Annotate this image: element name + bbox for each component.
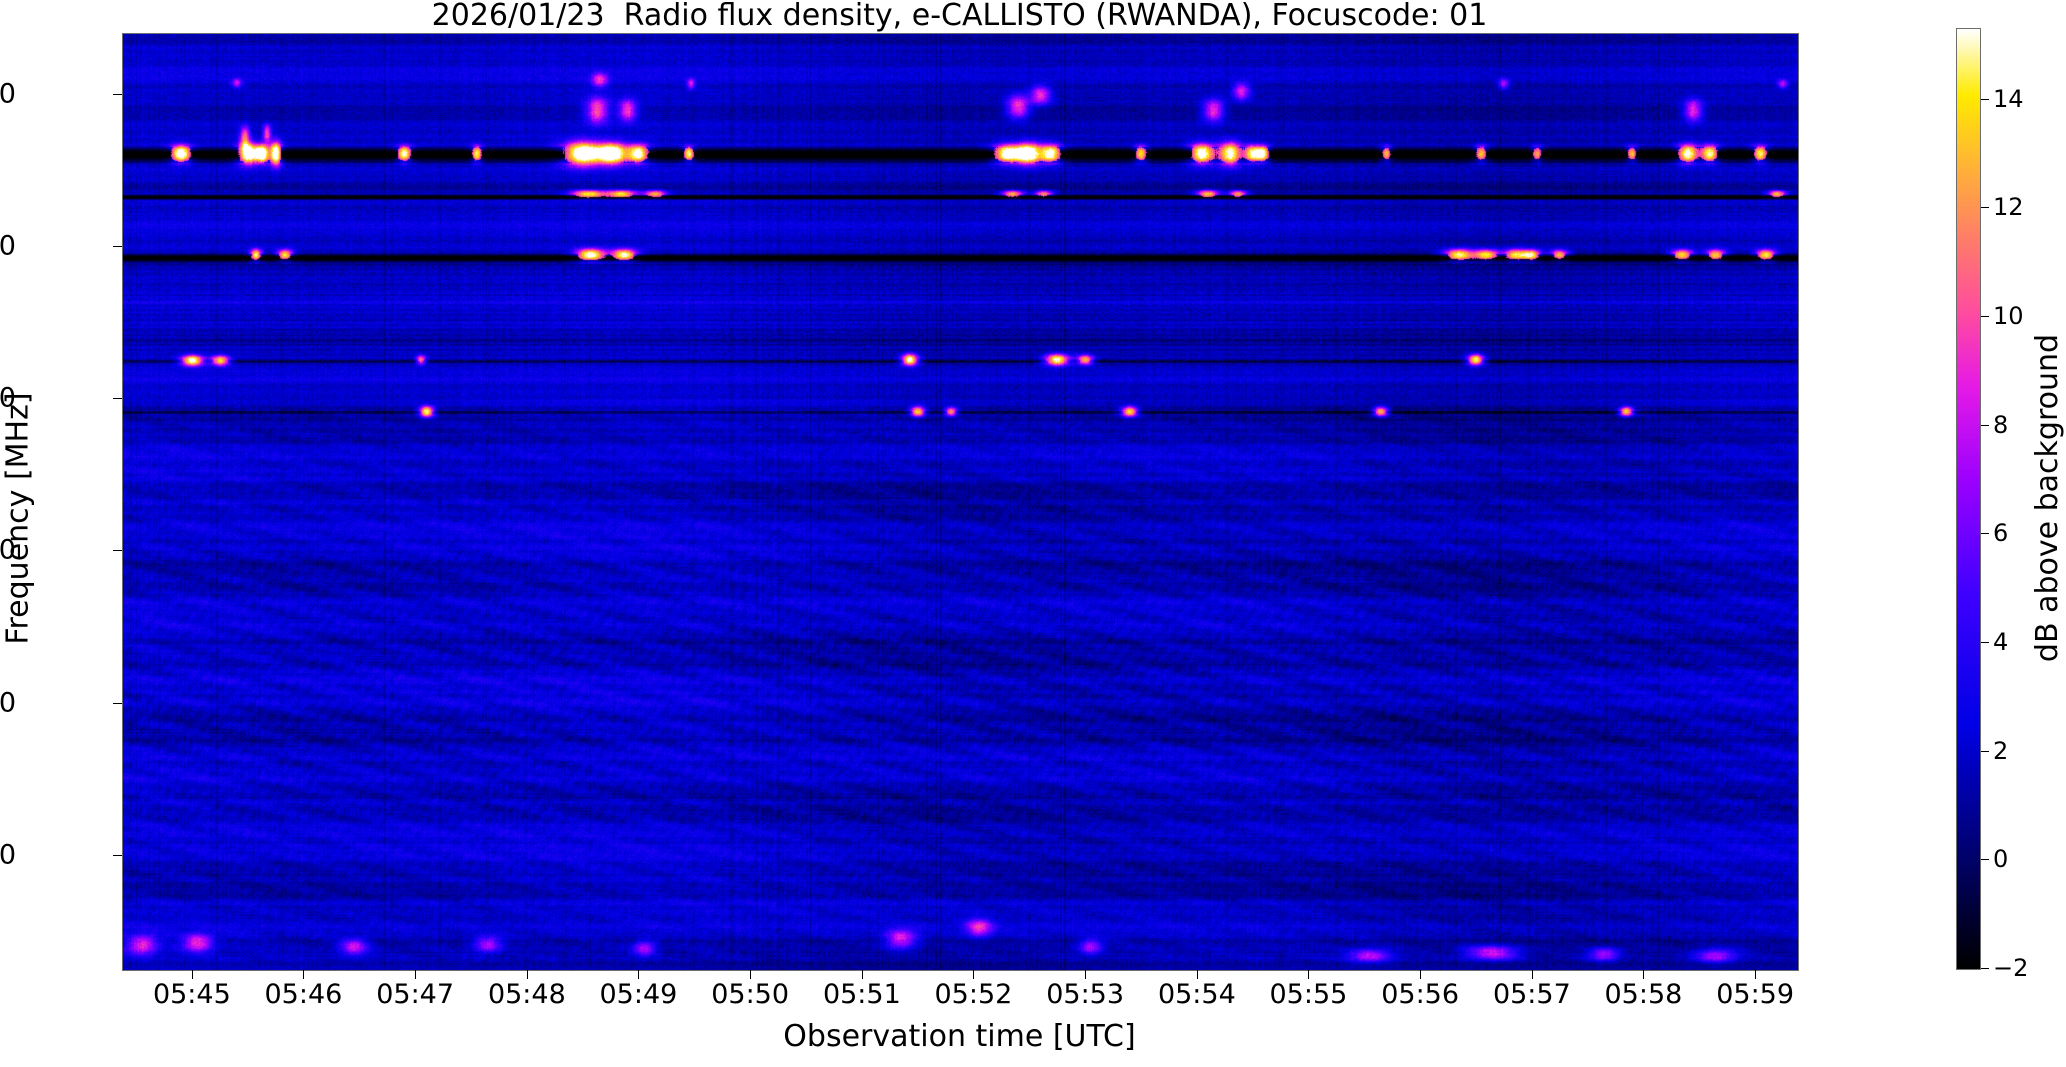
x-tick-mark bbox=[1755, 970, 1756, 979]
y-axis-label: Frequency [MHz] bbox=[1, 501, 36, 537]
x-tick-mark bbox=[415, 970, 416, 979]
colorbar-tick-mark bbox=[1981, 642, 1989, 643]
x-tick-mark bbox=[1532, 970, 1533, 979]
x-tick-label: 05:48 bbox=[488, 979, 566, 1010]
x-tick-mark bbox=[750, 970, 751, 979]
x-tick-mark bbox=[1308, 970, 1309, 979]
x-tick-mark bbox=[527, 970, 528, 979]
x-tick-label: 05:57 bbox=[1493, 979, 1571, 1010]
colorbar-tick-mark bbox=[1981, 859, 1989, 860]
x-tick-label: 05:50 bbox=[711, 979, 789, 1010]
x-tick-mark bbox=[638, 970, 639, 979]
x-tick-mark bbox=[1197, 970, 1198, 979]
colorbar-tick-mark bbox=[1981, 968, 1989, 969]
colorbar-tick-label: 8 bbox=[1993, 411, 2008, 439]
y-tick-label: 140 bbox=[0, 231, 16, 262]
y-tick-mark bbox=[113, 855, 122, 856]
spectrogram-heatmap[interactable] bbox=[123, 34, 1798, 970]
x-axis-label: Observation time [UTC] bbox=[122, 1019, 1797, 1054]
x-tick-label: 05:52 bbox=[934, 979, 1012, 1010]
colorbar-tick-mark bbox=[1981, 207, 1989, 208]
y-tick-label: 160 bbox=[0, 78, 16, 109]
colorbar-tick-label: 10 bbox=[1993, 302, 2024, 330]
x-tick-mark bbox=[1643, 970, 1644, 979]
y-tick-mark bbox=[113, 703, 122, 704]
x-tick-mark bbox=[303, 970, 304, 979]
colorbar-tick-mark bbox=[1981, 751, 1989, 752]
colorbar-tick-mark bbox=[1981, 425, 1989, 426]
colorbar-tick-label: 14 bbox=[1993, 85, 2024, 113]
x-tick-label: 05:55 bbox=[1269, 979, 1347, 1010]
colorbar-tick-label: 4 bbox=[1993, 628, 2008, 656]
spectrogram-figure: 2026/01/23 Radio flux density, e-CALLIST… bbox=[0, 0, 2066, 1067]
colorbar-tick-label: 2 bbox=[1993, 737, 2008, 765]
x-tick-label: 05:56 bbox=[1381, 979, 1459, 1010]
y-axis-label-text: Frequency [MHz] bbox=[1, 169, 36, 869]
x-tick-label: 05:58 bbox=[1604, 979, 1682, 1010]
y-tick-mark bbox=[113, 550, 122, 551]
x-tick-mark bbox=[1420, 970, 1421, 979]
y-tick-mark bbox=[113, 94, 122, 95]
x-tick-label: 05:47 bbox=[376, 979, 454, 1010]
x-tick-label: 05:46 bbox=[264, 979, 342, 1010]
plot-area[interactable] bbox=[122, 33, 1799, 971]
x-tick-label: 05:59 bbox=[1716, 979, 1794, 1010]
page-title: 2026/01/23 Radio flux density, e-CALLIST… bbox=[122, 1, 1797, 31]
y-tick-label: 120 bbox=[0, 383, 16, 414]
colorbar-label: dB above background bbox=[2030, 334, 2065, 662]
x-tick-label: 05:54 bbox=[1158, 979, 1236, 1010]
x-tick-mark bbox=[862, 970, 863, 979]
x-tick-label: 05:53 bbox=[1046, 979, 1124, 1010]
colorbar-tick-mark bbox=[1981, 533, 1989, 534]
x-tick-label: 05:49 bbox=[599, 979, 677, 1010]
y-tick-label: 80 bbox=[0, 687, 16, 718]
colorbar-tick-label: 6 bbox=[1993, 519, 2008, 547]
x-tick-mark bbox=[192, 970, 193, 979]
y-tick-label: 60 bbox=[0, 839, 16, 870]
x-tick-label: 05:45 bbox=[153, 979, 231, 1010]
colorbar-tick-mark bbox=[1981, 99, 1989, 100]
x-tick-mark bbox=[973, 970, 974, 979]
colorbar-tick-label: −2 bbox=[1993, 954, 2028, 982]
colorbar-gradient bbox=[1957, 29, 1980, 969]
colorbar-tick-label: 12 bbox=[1993, 193, 2024, 221]
x-tick-label: 05:51 bbox=[823, 979, 901, 1010]
colorbar-tick-label: 0 bbox=[1993, 845, 2008, 873]
y-tick-label: 100 bbox=[0, 535, 16, 566]
colorbar-tick-mark bbox=[1981, 316, 1989, 317]
y-tick-mark bbox=[113, 246, 122, 247]
y-tick-mark bbox=[113, 398, 122, 399]
colorbar[interactable] bbox=[1956, 28, 1981, 970]
x-tick-mark bbox=[1085, 970, 1086, 979]
